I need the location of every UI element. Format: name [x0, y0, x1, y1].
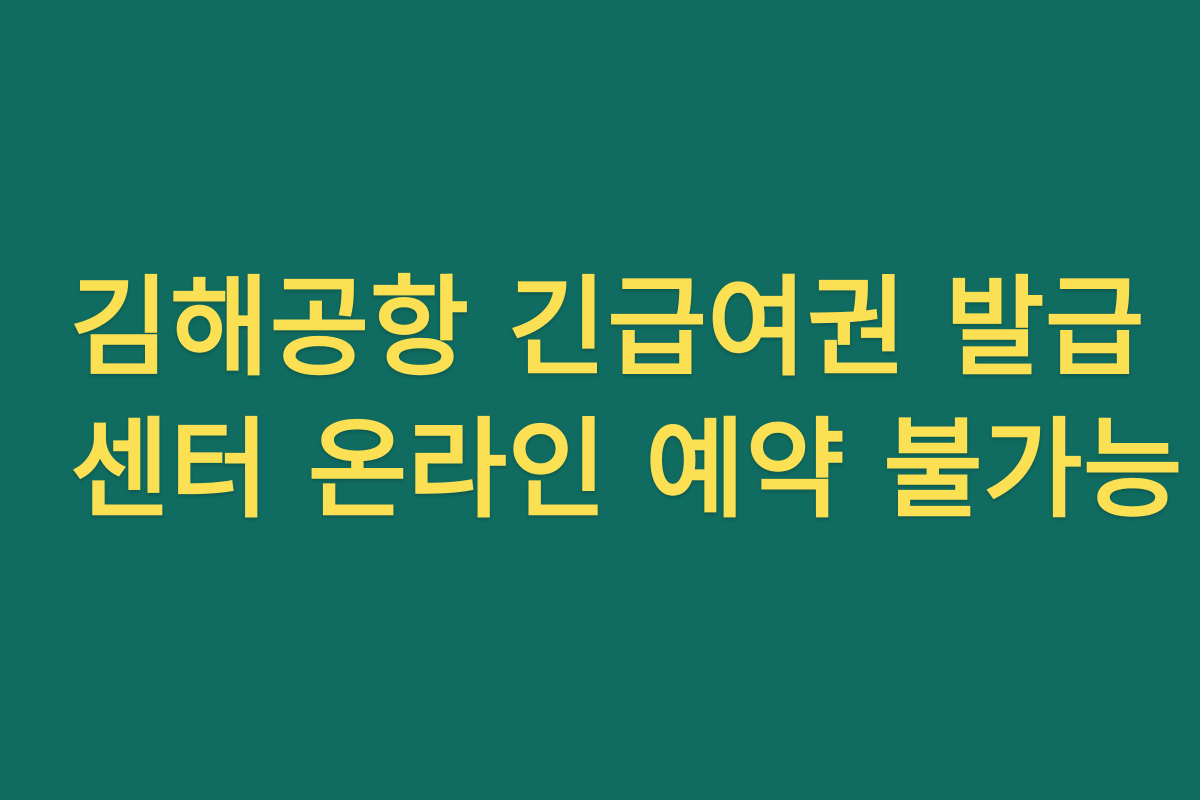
headline-line-2: 센터 온라인 예약 불가능 [70, 400, 1130, 542]
thumbnail-card: 김해공항 긴급여권 발급 센터 온라인 예약 불가능 [0, 0, 1200, 800]
headline-text: 김해공항 긴급여권 발급 센터 온라인 예약 불가능 [70, 258, 1130, 542]
headline-line-1: 김해공항 긴급여권 발급 [70, 258, 1130, 400]
